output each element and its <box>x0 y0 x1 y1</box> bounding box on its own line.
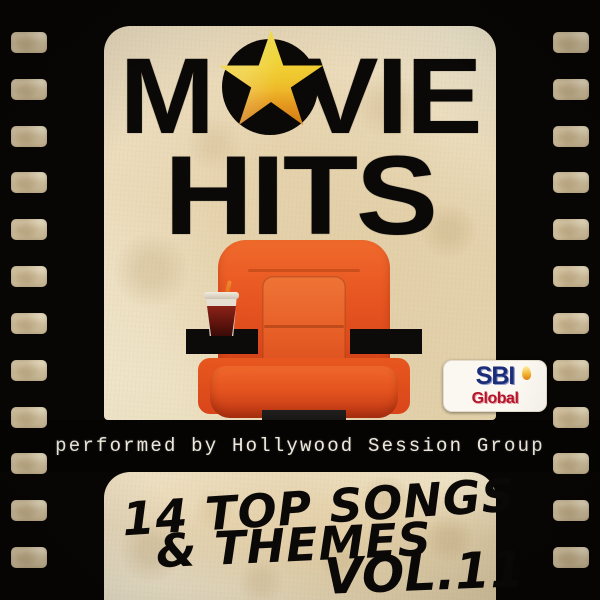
logo-global-text: Global <box>444 389 546 408</box>
cinema-seat-icon <box>196 240 412 430</box>
film-sprocket-hole-icon <box>553 126 589 147</box>
film-sprocket-hole-icon <box>553 453 589 474</box>
film-sprocket-hole-icon <box>553 547 589 568</box>
film-sprocket-hole-icon <box>553 407 589 428</box>
film-sprocket-hole-icon <box>553 266 589 287</box>
sbi-global-logo: SBI Global <box>443 360 547 412</box>
film-sprocket-hole-icon <box>553 219 589 240</box>
film-sprocket-hole-icon <box>11 313 47 334</box>
volume-label: VOL.11 <box>323 544 526 600</box>
film-sprocket-hole-icon <box>553 500 589 521</box>
film-sprocket-hole-icon <box>553 313 589 334</box>
film-sprocket-hole-icon <box>11 172 47 193</box>
cup-lid <box>204 292 239 299</box>
film-sprocket-hole-icon <box>553 360 589 381</box>
performed-by-band: performed by Hollywood Session Group <box>0 420 600 472</box>
performed-by-text: performed by Hollywood Session Group <box>55 435 545 457</box>
cup-drink <box>207 306 236 336</box>
film-sprocket-hole-icon <box>553 172 589 193</box>
film-strip-right <box>542 0 600 600</box>
film-sprocket-hole-icon <box>553 32 589 53</box>
film-sprocket-hole-icon <box>11 126 47 147</box>
film-sprocket-hole-icon <box>11 79 47 100</box>
seat-seam <box>248 269 360 272</box>
film-sprocket-hole-icon <box>553 79 589 100</box>
film-sprocket-hole-icon <box>11 219 47 240</box>
film-strip-left <box>0 0 58 600</box>
film-sprocket-hole-icon <box>11 32 47 53</box>
film-sprocket-hole-icon <box>11 360 47 381</box>
film-sprocket-hole-icon <box>11 407 47 428</box>
album-cover: MVIE HITS SBI Global performed by Hollyw… <box>0 0 600 600</box>
tagline-block: 14 TOP SONGS & THEMES VOL.11 <box>104 472 496 600</box>
film-sprocket-hole-icon <box>11 266 47 287</box>
seat-armrest-right <box>350 329 422 354</box>
film-sprocket-hole-icon <box>11 547 47 568</box>
soda-cup-icon <box>202 284 242 336</box>
film-sprocket-hole-icon <box>11 453 47 474</box>
film-sprocket-hole-icon <box>11 500 47 521</box>
